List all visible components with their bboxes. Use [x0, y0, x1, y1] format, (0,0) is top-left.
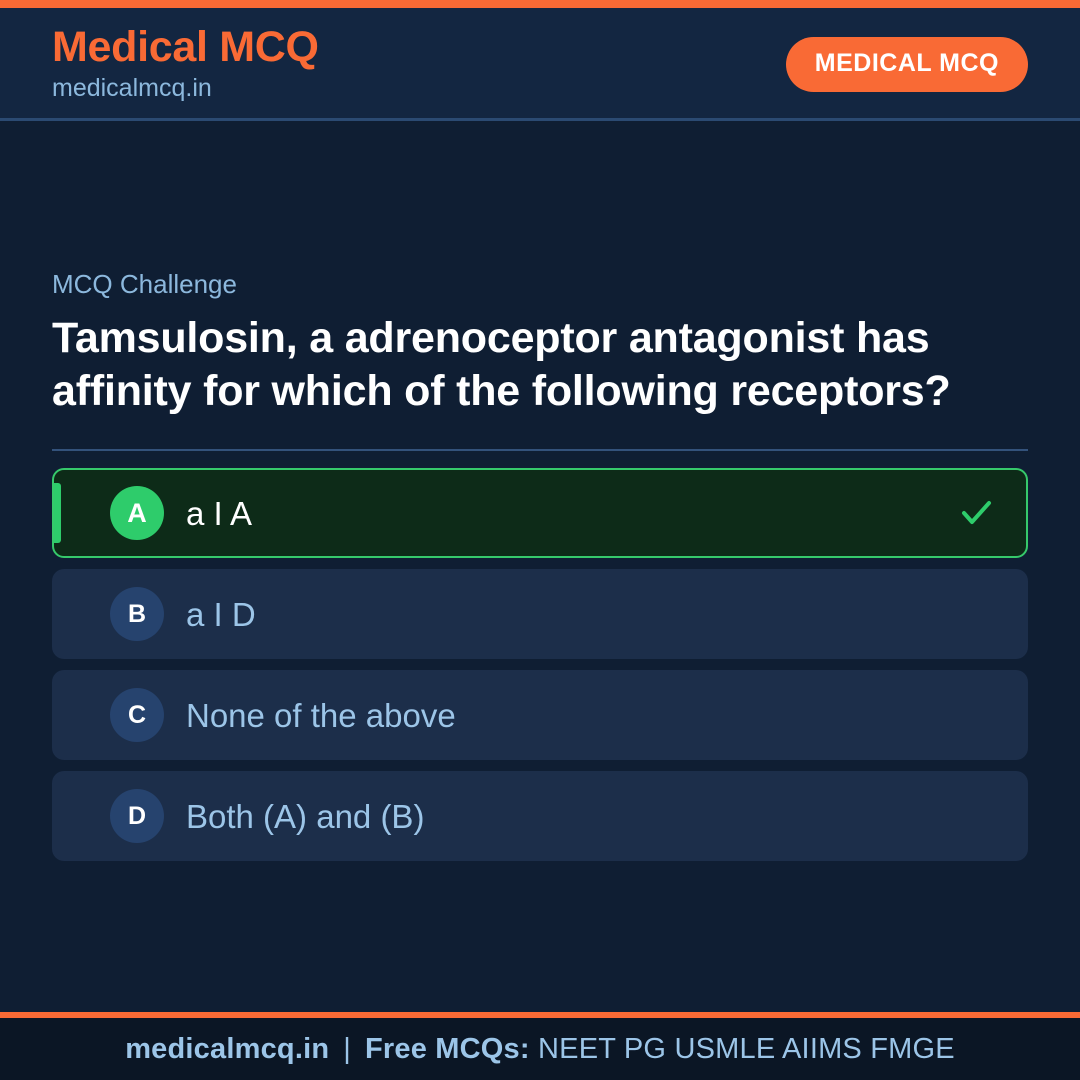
option-a[interactable]: A a I A [52, 468, 1028, 558]
footer-separator: | [343, 1033, 351, 1065]
option-b[interactable]: B a I D [52, 569, 1028, 659]
check-icon [956, 493, 996, 533]
question-text: Tamsulosin, a adrenoceptor antagonist ha… [52, 312, 1012, 417]
option-a-letter: A [110, 486, 164, 540]
brand-badge[interactable]: MEDICAL MCQ [786, 37, 1028, 92]
brand-block: Medical MCQ medicalmcq.in [52, 25, 319, 105]
footer-site[interactable]: medicalmcq.in [125, 1033, 329, 1065]
option-d-letter: D [110, 789, 164, 843]
option-c-text: None of the above [186, 699, 456, 732]
footer: medicalmcq.in|Free MCQs: NEET PG USMLE A… [0, 1012, 1080, 1080]
top-accent-bar [0, 0, 1080, 8]
footer-exams: NEET PG USMLE AIIMS FMGE [538, 1033, 955, 1065]
brand-title: Medical MCQ [52, 25, 319, 70]
option-c[interactable]: C None of the above [52, 670, 1028, 760]
challenge-label: MCQ Challenge [52, 269, 1028, 300]
option-b-text: a I D [186, 598, 256, 631]
option-d[interactable]: D Both (A) and (B) [52, 771, 1028, 861]
footer-text: medicalmcq.in|Free MCQs: NEET PG USMLE A… [125, 1033, 955, 1066]
header: Medical MCQ medicalmcq.in MEDICAL MCQ [0, 8, 1080, 121]
main-content: MCQ Challenge Tamsulosin, a adrenoceptor… [0, 121, 1080, 1012]
option-a-text: a I A [186, 497, 252, 530]
options-list: A a I A B a I D C None of the above [52, 468, 1028, 861]
mcq-card: Medical MCQ medicalmcq.in MEDICAL MCQ MC… [0, 0, 1080, 1080]
brand-subtitle: medicalmcq.in [52, 72, 319, 105]
option-b-letter: B [110, 587, 164, 641]
option-c-letter: C [110, 688, 164, 742]
question-divider [52, 449, 1028, 451]
footer-tagline: Free MCQs: [365, 1033, 530, 1065]
correct-accent-bar [54, 483, 61, 543]
question-block: MCQ Challenge Tamsulosin, a adrenoceptor… [52, 269, 1028, 417]
option-d-text: Both (A) and (B) [186, 800, 424, 833]
